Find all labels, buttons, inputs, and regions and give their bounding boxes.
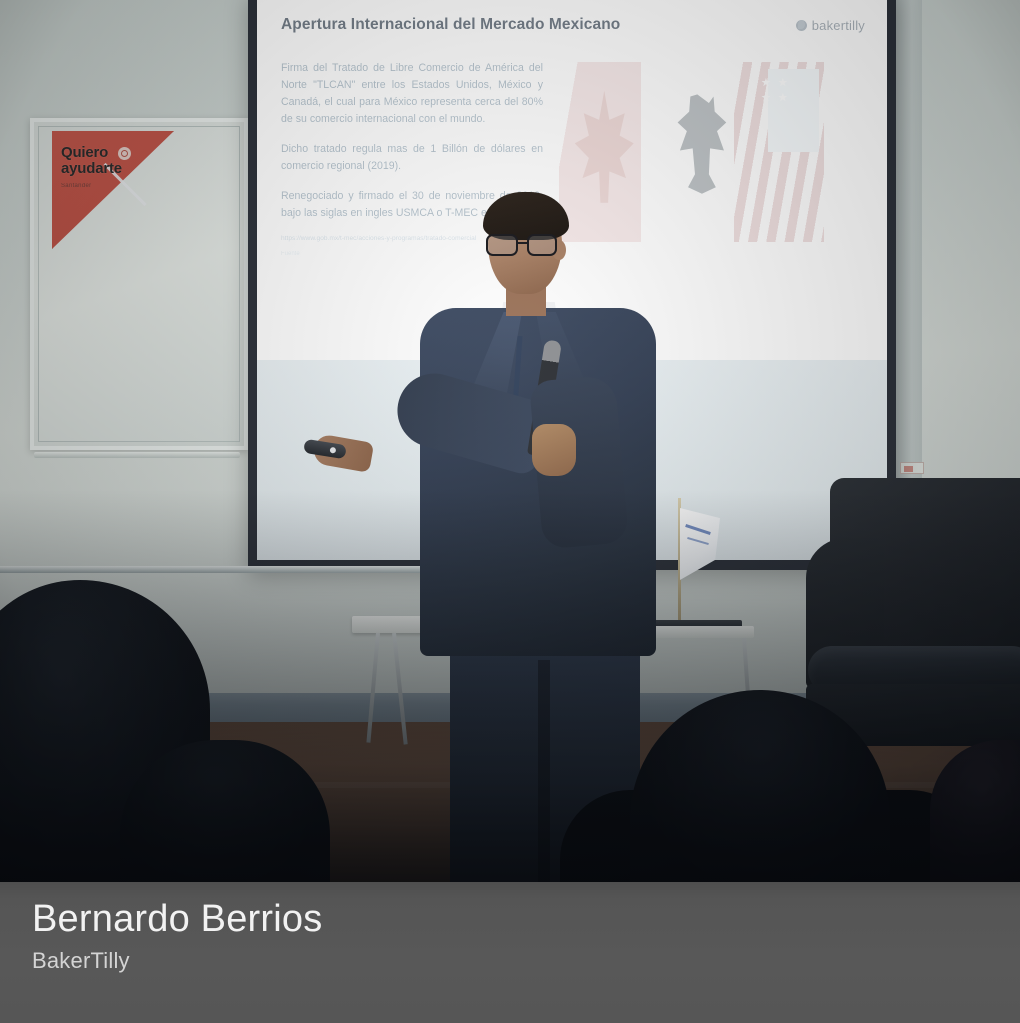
wall-column — [896, 0, 922, 492]
whiteboard-marker-tray — [34, 452, 240, 458]
speaker-info: Bernardo Berrios BakerTilly — [32, 896, 322, 974]
poster-line-2: ayudarte — [61, 160, 122, 177]
poster-subtitle: Santander — [61, 183, 91, 189]
usa-flag: ★★ ★★ — [734, 62, 824, 242]
stars-icon: ★★ ★★ — [761, 76, 815, 106]
presenter-hair — [483, 192, 569, 240]
whiteboard: Quiero ayudarte Santander — [30, 118, 248, 450]
bakertilly-wordmark: bakertilly — [812, 18, 865, 33]
glasses-lens — [486, 234, 518, 256]
presenter-leg-split — [538, 660, 550, 890]
bakertilly-leaf-icon — [796, 20, 807, 31]
screenshot-root: Quiero ayudarte Santander Apertura Inter… — [0, 0, 1020, 1023]
poster-text: Quiero ayudarte — [61, 145, 122, 177]
poster-line-1: Quiero — [61, 144, 108, 161]
glasses-bridge — [518, 242, 527, 244]
quiero-ayudarte-poster: Quiero ayudarte Santander — [52, 131, 174, 249]
banner-inner: Bernardo Berrios BakerTilly CIM SUMMIT 2… — [0, 882, 1020, 1023]
speaker-banner: Bernardo Berrios BakerTilly CIM SUMMIT 2… — [0, 882, 1020, 1023]
slide-paragraph: Dicho tratado regula mas de 1 Billón de … — [281, 141, 543, 175]
presenter-right-hand — [532, 424, 576, 476]
event-photograph: Quiero ayudarte Santander Apertura Inter… — [0, 0, 1020, 890]
bakertilly-logo: bakertilly — [796, 18, 865, 33]
slide-title: Apertura Internacional del Mercado Mexic… — [281, 16, 620, 34]
speaker-name: Bernardo Berrios — [32, 896, 322, 942]
speaker-organization: BakerTilly — [32, 948, 322, 974]
glasses-lens — [527, 234, 557, 256]
slide-header: Apertura Internacional del Mercado Mexic… — [281, 16, 865, 34]
wall-outlet — [900, 462, 924, 474]
glasses-icon — [486, 234, 564, 256]
slide-paragraph: Firma del Tratado de Libre Comercio de A… — [281, 60, 543, 128]
